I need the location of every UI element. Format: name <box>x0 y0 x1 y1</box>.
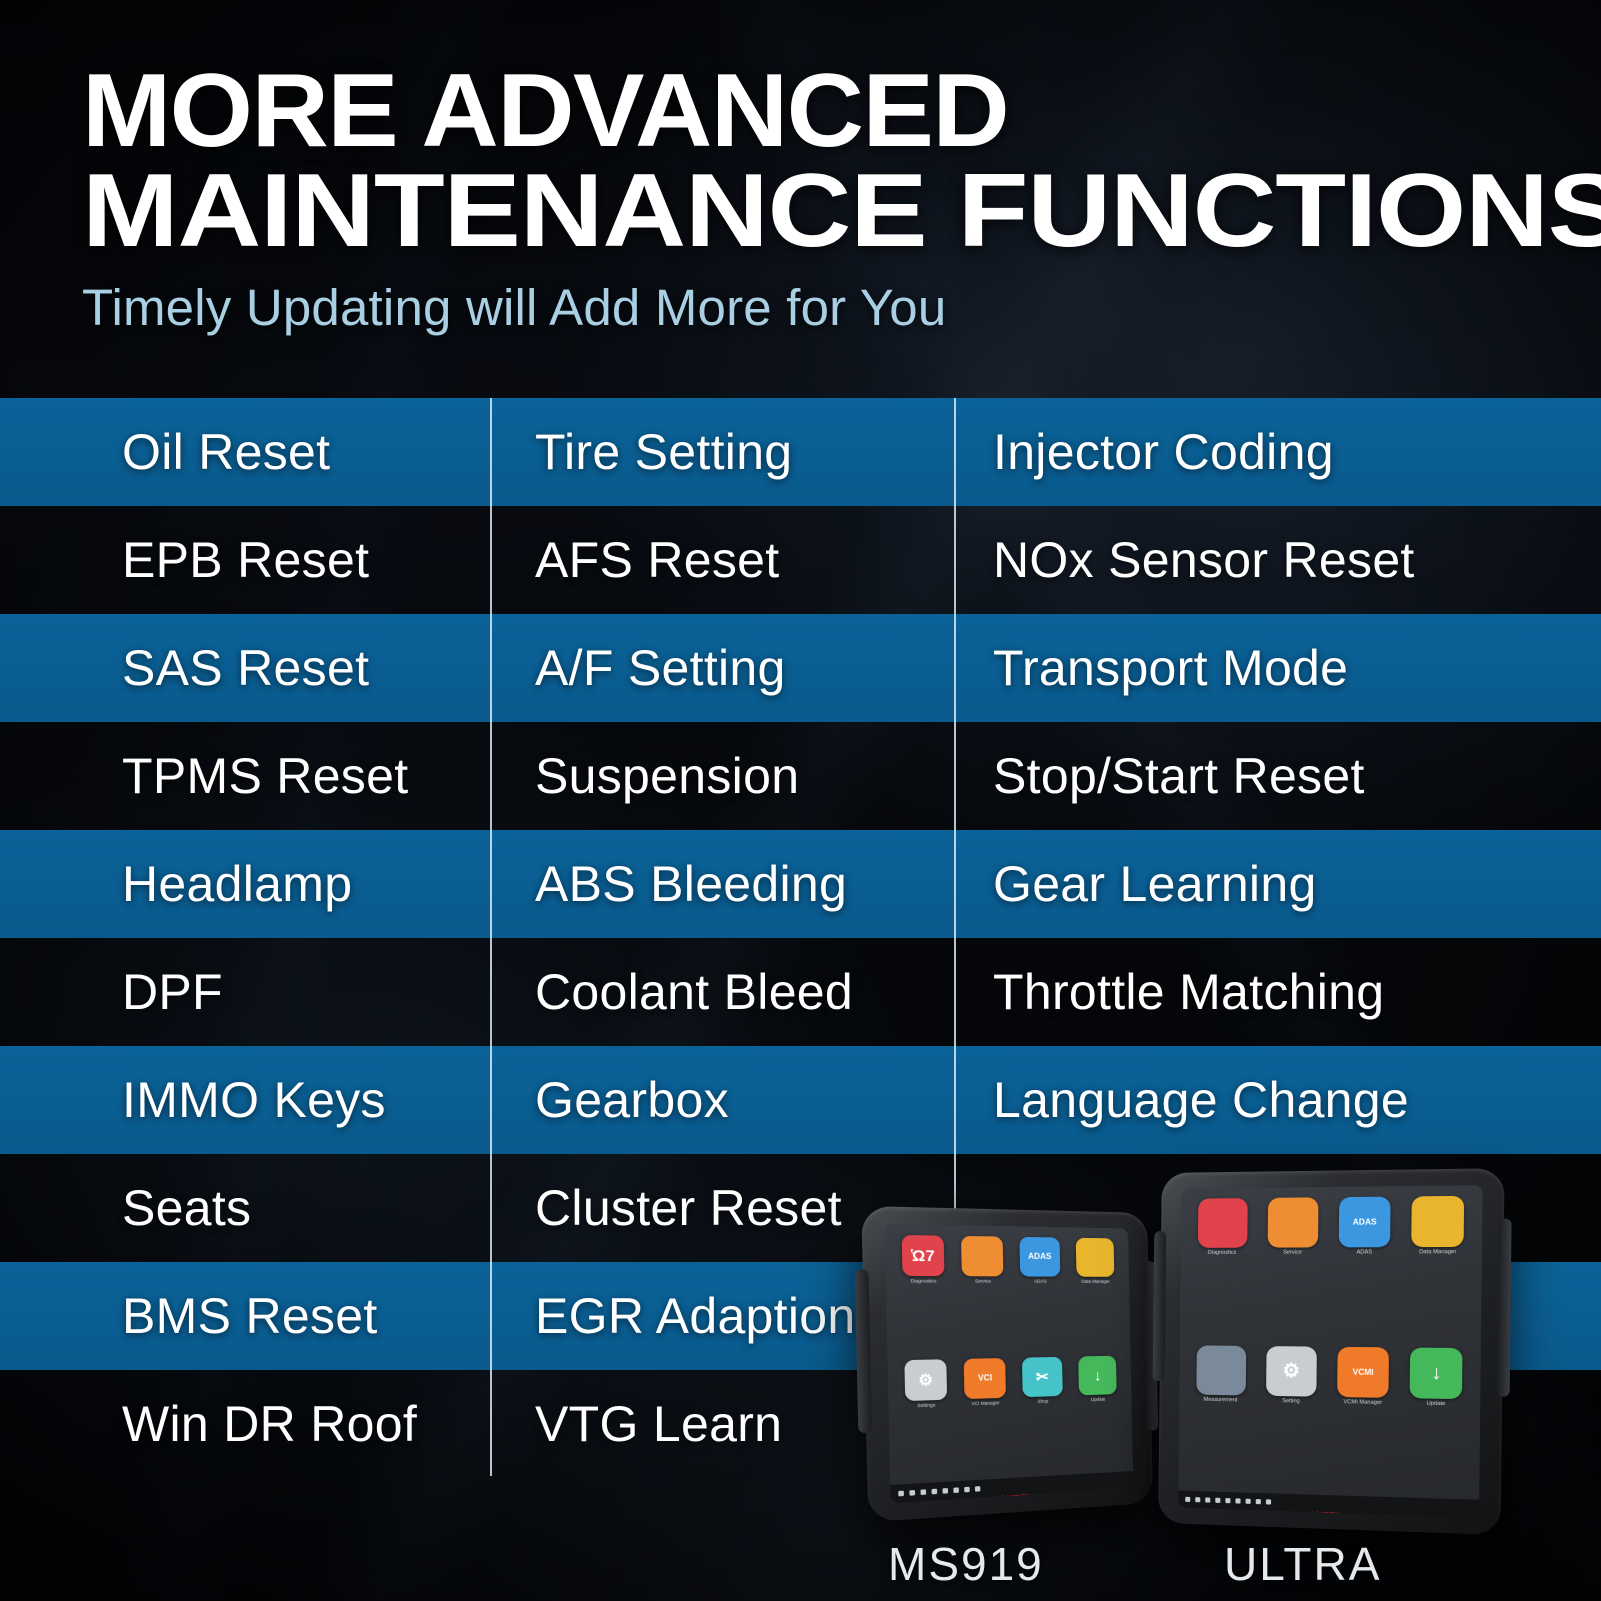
data-manager-icon <box>1076 1238 1115 1277</box>
column-divider-1 <box>490 398 492 1476</box>
table-row: HeadlampABS BleedingGear Learning <box>0 830 1601 938</box>
app-label: Update <box>1091 1397 1106 1403</box>
app-label: Diagnostics <box>1208 1250 1237 1256</box>
app-icon-tools-icon[interactable]: ✂Shop <box>1015 1357 1071 1476</box>
row-cells: Oil ResetTire SettingInjector Coding <box>0 398 1601 506</box>
taskbar-extra-icon <box>1266 1499 1271 1504</box>
tile-glyph: ↓ <box>1431 1363 1441 1383</box>
tablet-ms919: Ὡ7DiagnosticsServiceADASADASData Manager… <box>861 1206 1153 1522</box>
taskbar-camera-icon <box>1225 1498 1230 1503</box>
function-cell[interactable]: Tire Setting <box>491 398 955 506</box>
taskbar-app-icon <box>975 1486 980 1492</box>
app-icon-measurement-icon[interactable]: Measurement <box>1186 1345 1254 1491</box>
page-header: MORE ADVANCED MAINTENANCE FUNCTIONS Time… <box>82 62 1542 337</box>
row-cells: SAS ResetA/F SettingTransport Mode <box>0 614 1601 722</box>
table-row: Oil ResetTire SettingInjector Coding <box>0 398 1601 506</box>
gear-icon: ⚙ <box>1266 1346 1317 1397</box>
vcmi-icon: VCMI <box>1337 1347 1389 1398</box>
table-row: IMMO KeysGearboxLanguage Change <box>0 1046 1601 1154</box>
function-cell[interactable]: Seats <box>0 1154 491 1262</box>
function-cell[interactable]: TPMS Reset <box>0 722 491 830</box>
function-cell[interactable]: Injector Coding <box>955 398 1601 506</box>
app-label: VCMI Manager <box>1343 1399 1382 1406</box>
row-cells: DPFCoolant BleedThrottle Matching <box>0 938 1601 1046</box>
tile-glyph: ADAS <box>1028 1253 1052 1262</box>
function-cell[interactable]: A/F Setting <box>491 614 955 722</box>
service-icon <box>1267 1197 1318 1247</box>
taskbar-recent-icon <box>921 1489 927 1495</box>
function-cell[interactable]: Suspension <box>491 722 955 830</box>
function-cell[interactable]: BMS Reset <box>0 1262 491 1370</box>
table-row: EPB ResetAFS ResetNOx Sensor Reset <box>0 506 1601 614</box>
device-name-ms919: MS919 <box>888 1537 1044 1591</box>
taskbar-home-icon <box>1195 1497 1200 1502</box>
taskbar-camera-icon <box>942 1488 948 1494</box>
table-row: SAS ResetA/F SettingTransport Mode <box>0 614 1601 722</box>
page-title-line-2: MAINTENANCE FUNCTIONS <box>82 162 1601 262</box>
download-icon: ↓ <box>1410 1348 1463 1400</box>
app-icon-car-icon[interactable]: Diagnostics <box>1188 1198 1256 1343</box>
app-label: Update <box>1427 1401 1446 1408</box>
app-label: ADAS <box>1356 1249 1372 1255</box>
app-icon-adas-icon[interactable]: ADASADAS <box>1329 1197 1400 1345</box>
table-row: TPMS ResetSuspensionStop/Start Reset <box>0 722 1601 830</box>
function-cell[interactable]: Win DR Roof <box>0 1370 491 1478</box>
tablet-ms919-app-grid: Ὡ7DiagnosticsServiceADASADASData Manager… <box>885 1224 1133 1485</box>
device-showcase: Ὡ7DiagnosticsServiceADASADASData Manager… <box>860 1165 1601 1601</box>
function-cell[interactable]: Language Change <box>955 1046 1601 1154</box>
app-label: Data Manager <box>1419 1249 1456 1255</box>
row-cells: IMMO KeysGearboxLanguage Change <box>0 1046 1601 1154</box>
autel-logo-ms919: AUTEL <box>999 1492 1033 1503</box>
app-icon-data-manager-icon[interactable]: Data Manager <box>1401 1196 1473 1345</box>
app-icon-gear-icon[interactable]: ⚙Setting <box>1256 1346 1326 1493</box>
function-cell[interactable]: Stop/Start Reset <box>955 722 1601 830</box>
page-subtitle: Timely Updating will Add More for You <box>82 278 1542 337</box>
app-icon-adas-icon[interactable]: ADASADAS <box>1013 1237 1069 1355</box>
car-icon: Ὡ7 <box>901 1235 944 1276</box>
taskbar-lock-icon <box>964 1487 969 1493</box>
gear-icon: ⚙ <box>904 1359 947 1401</box>
column-divider-2 <box>954 398 956 1241</box>
function-cell[interactable]: Transport Mode <box>955 614 1601 722</box>
car-icon <box>1197 1198 1247 1248</box>
app-icon-download-icon[interactable]: ↓Update <box>1071 1356 1125 1473</box>
function-cell[interactable]: Gear Learning <box>955 830 1601 938</box>
function-cell[interactable]: IMMO Keys <box>0 1046 491 1154</box>
adas-icon: ADAS <box>1020 1237 1060 1277</box>
app-icon-data-manager-icon[interactable]: Data Manager <box>1069 1238 1123 1354</box>
function-cell[interactable]: NOx Sensor Reset <box>955 506 1601 614</box>
app-label: Measurement <box>1204 1397 1238 1404</box>
measurement-icon <box>1196 1345 1246 1395</box>
app-icon-service-icon[interactable]: Service <box>954 1236 1012 1356</box>
tile-glyph: ⚙ <box>918 1372 933 1388</box>
taskbar-lock-icon <box>1246 1499 1251 1504</box>
taskbar-video-icon <box>1235 1498 1240 1503</box>
function-cell[interactable]: EPB Reset <box>0 506 491 614</box>
adas-icon: ADAS <box>1339 1197 1391 1248</box>
function-cell[interactable]: SAS Reset <box>0 614 491 722</box>
taskbar-app-icon <box>1256 1499 1261 1504</box>
function-cell[interactable]: Headlamp <box>0 830 491 938</box>
promo-banner: MORE ADVANCED MAINTENANCE FUNCTIONS Time… <box>0 0 1601 1601</box>
row-cells: HeadlampABS BleedingGear Learning <box>0 830 1601 938</box>
taskbar-settings-icon <box>932 1489 938 1495</box>
download-icon: ↓ <box>1078 1356 1117 1396</box>
tile-glyph: VCMI <box>1353 1368 1374 1377</box>
taskbar-home-icon <box>909 1490 915 1496</box>
row-cells: TPMS ResetSuspensionStop/Start Reset <box>0 722 1601 830</box>
tablet-ultra-screen: DiagnosticsServiceADASADASData ManagerMe… <box>1178 1185 1482 1517</box>
function-cell[interactable]: Oil Reset <box>0 398 491 506</box>
app-label: Service <box>975 1279 991 1284</box>
tile-glyph: Ὡ7 <box>911 1248 935 1264</box>
device-name-ultra: ULTRA <box>1224 1537 1381 1591</box>
function-cell[interactable]: Gearbox <box>491 1046 955 1154</box>
app-icon-gear-icon[interactable]: ⚙Settings <box>896 1359 956 1482</box>
tablet-ultra: DiagnosticsServiceADASADASData ManagerMe… <box>1158 1168 1504 1535</box>
tools-icon: ✂ <box>1022 1357 1062 1398</box>
function-cell[interactable]: AFS Reset <box>491 506 955 614</box>
tablet-ms919-screen: Ὡ7DiagnosticsServiceADASADASData Manager… <box>885 1224 1134 1504</box>
row-cells: EPB ResetAFS ResetNOx Sensor Reset <box>0 506 1601 614</box>
vci-icon: VCI <box>964 1358 1006 1399</box>
app-icon-car-icon[interactable]: Ὡ7Diagnostics <box>894 1235 954 1357</box>
page-title-line-1: MORE ADVANCED <box>82 62 1586 162</box>
app-icon-download-icon[interactable]: ↓Update <box>1400 1347 1472 1497</box>
app-label: Setting <box>1282 1398 1300 1404</box>
taskbar-video-icon <box>953 1487 959 1493</box>
app-label: Service <box>1283 1250 1302 1256</box>
taskbar-back-icon <box>898 1491 904 1497</box>
app-icon-service-icon[interactable]: Service <box>1258 1197 1328 1343</box>
function-cell[interactable]: Throttle Matching <box>955 938 1601 1046</box>
function-cell[interactable]: DPF <box>0 938 491 1046</box>
tile-glyph: ADAS <box>1353 1218 1377 1226</box>
data-manager-icon <box>1412 1196 1465 1247</box>
tablet-ultra-app-grid: DiagnosticsServiceADASADASData ManagerMe… <box>1178 1185 1482 1500</box>
app-label: Data Manager <box>1081 1279 1109 1284</box>
taskbar-settings-icon <box>1215 1498 1220 1503</box>
app-icon-vcmi-icon[interactable]: VCMIVCMI Manager <box>1327 1347 1398 1495</box>
tile-glyph: ⚙ <box>1282 1362 1300 1382</box>
app-icon-vci-icon[interactable]: VCIVCI Manager <box>957 1358 1015 1479</box>
function-cell[interactable]: ABS Bleeding <box>491 830 955 938</box>
function-cell[interactable]: Coolant Bleed <box>491 938 955 1046</box>
service-icon <box>962 1236 1004 1277</box>
app-label: Shop <box>1037 1399 1048 1405</box>
app-label: Settings <box>917 1403 935 1409</box>
table-row: DPFCoolant BleedThrottle Matching <box>0 938 1601 1046</box>
tile-glyph: ↓ <box>1094 1368 1102 1383</box>
app-label: Diagnostics <box>911 1278 937 1283</box>
autel-logo-ultra: AUTEL <box>1309 1510 1343 1518</box>
app-label: VCI Manager <box>971 1400 999 1406</box>
tile-glyph: ✂ <box>1036 1369 1049 1385</box>
tile-glyph: VCI <box>978 1374 992 1383</box>
taskbar-recent-icon <box>1205 1497 1210 1502</box>
taskbar-back-icon <box>1185 1497 1190 1502</box>
app-label: ADAS <box>1034 1279 1047 1284</box>
